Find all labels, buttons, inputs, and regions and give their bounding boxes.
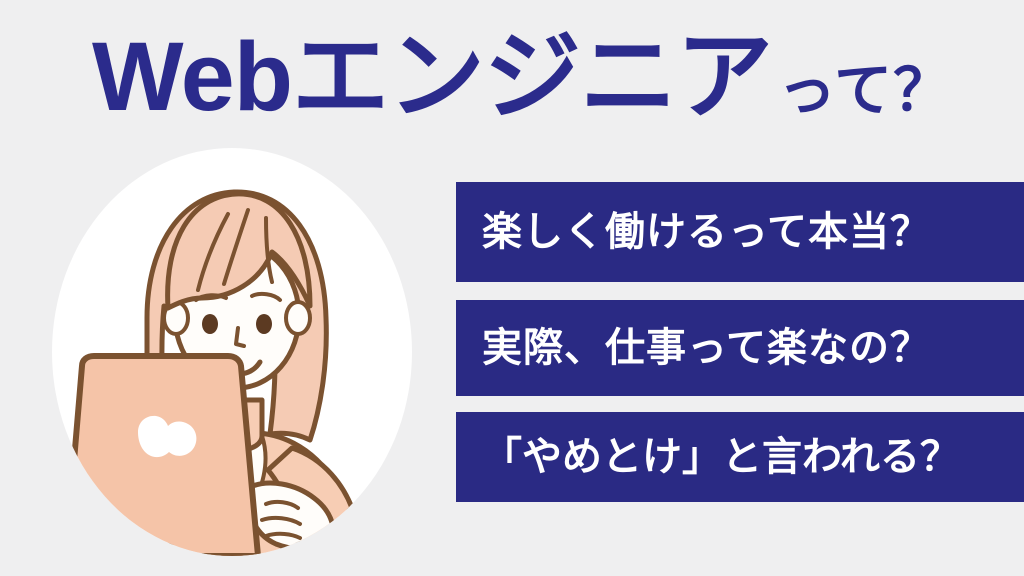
question-bar-2-label: 実際、仕事って楽なの？ — [482, 328, 931, 368]
question-bar-2: 実際、仕事って楽なの？ — [456, 300, 1024, 396]
question-bar-3: 「やめとけ」と言われる？ — [456, 412, 1024, 502]
question-bar-1-label: 楽しく働けるって本当？ — [482, 212, 931, 252]
banner-root: Webエンジニア って？ — [0, 0, 1024, 576]
page-title-main: Webエンジニア — [92, 28, 772, 125]
page-title: Webエンジニア って？ — [92, 28, 1002, 140]
question-bar-1: 楽しく働けるって本当？ — [456, 182, 1024, 282]
illustration-woman-with-laptop — [52, 148, 412, 556]
illustration-eye-right — [256, 314, 272, 334]
question-bar-3-label: 「やめとけ」と言われる？ — [482, 437, 960, 477]
page-title-suffix: って？ — [778, 62, 952, 120]
illustration-eye-left — [202, 314, 218, 334]
illustration-ear-right — [286, 302, 310, 334]
